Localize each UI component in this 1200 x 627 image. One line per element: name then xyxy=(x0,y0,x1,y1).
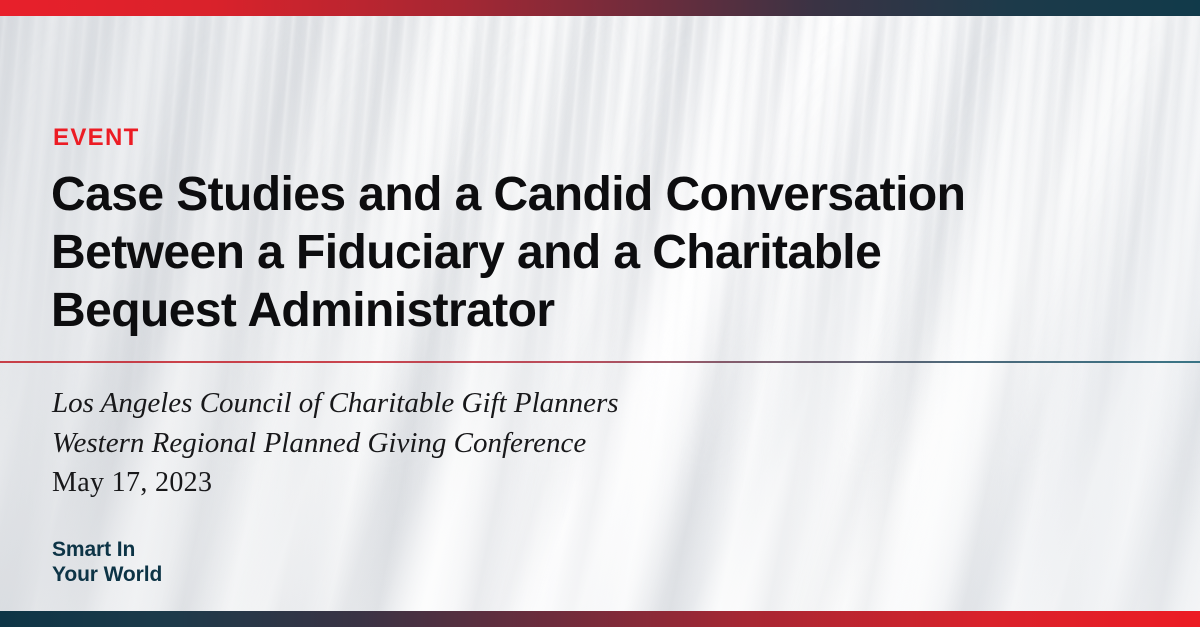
meta-organization: Los Angeles Council of Charitable Gift P… xyxy=(52,383,619,423)
banner-content: EVENT Case Studies and a Candid Conversa… xyxy=(0,0,1200,627)
tagline-line-2: Your World xyxy=(52,562,162,587)
bottom-gradient-bar xyxy=(0,611,1200,627)
meta-event-name: Western Regional Planned Giving Conferen… xyxy=(52,423,619,463)
headline-line-2: Between a Fiduciary and a Charitable xyxy=(51,224,1156,282)
headline-line-3: Bequest Administrator xyxy=(51,282,1156,340)
tagline-line-1: Smart In xyxy=(52,537,162,562)
meta-date: May 17, 2023 xyxy=(52,463,619,503)
event-banner: EVENT Case Studies and a Candid Conversa… xyxy=(0,0,1200,627)
brand-tagline: Smart In Your World xyxy=(52,537,162,587)
event-meta: Los Angeles Council of Charitable Gift P… xyxy=(52,383,619,503)
page-title: Case Studies and a Candid Conversation B… xyxy=(51,166,1156,340)
headline-line-1: Case Studies and a Candid Conversation xyxy=(51,166,1156,224)
headline-divider xyxy=(0,361,1200,363)
top-gradient-bar xyxy=(0,0,1200,16)
eyebrow-label: EVENT xyxy=(53,126,140,150)
